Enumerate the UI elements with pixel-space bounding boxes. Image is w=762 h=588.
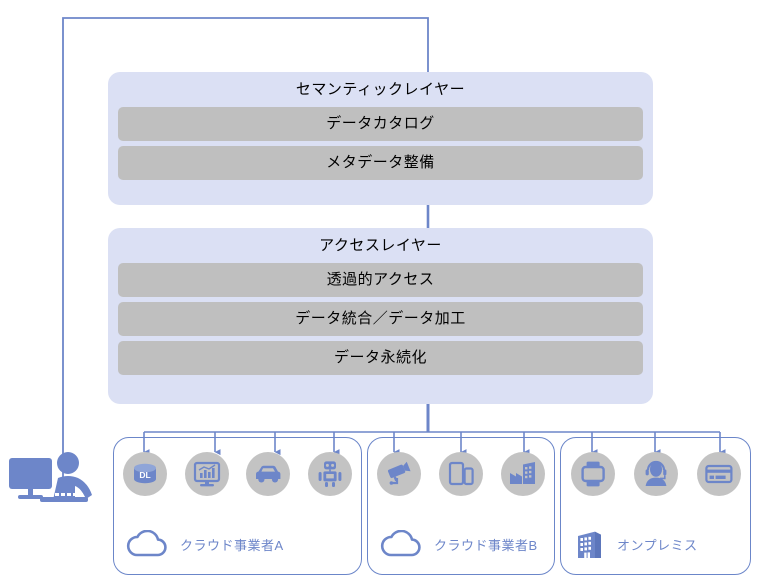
group-a-footer: クラウド事業者A bbox=[126, 528, 284, 560]
access-layer-row-persistence[interactable]: データ永続化 bbox=[118, 341, 643, 375]
group-cloud-provider-b: クラウド事業者B bbox=[367, 437, 555, 575]
analytics-monitor-icon bbox=[192, 459, 222, 489]
source-icons-group-a: DL bbox=[114, 452, 361, 496]
svg-text:DL: DL bbox=[139, 470, 150, 480]
semantic-layer-row-data-catalog[interactable]: データカタログ bbox=[118, 107, 643, 141]
access-layer-row-transparent-access[interactable]: 透過的アクセス bbox=[118, 263, 643, 297]
support-agent-icon bbox=[641, 459, 671, 489]
source-icons-group-b bbox=[368, 452, 554, 496]
access-layer-panel: アクセスレイヤー 透過的アクセス データ統合／データ加工 データ永続化 bbox=[108, 228, 653, 404]
car-icon bbox=[252, 459, 284, 489]
factory-icon bbox=[508, 459, 538, 489]
source-support-agent[interactable] bbox=[634, 452, 678, 496]
group-b-footer: クラウド事業者B bbox=[380, 528, 538, 560]
semantic-layer-panel: セマンティックレイヤー データカタログ メタデータ整備 bbox=[108, 72, 653, 205]
group-c-footer: オンプレミス bbox=[573, 528, 698, 560]
credit-card-icon bbox=[704, 459, 734, 489]
robot-icon bbox=[315, 459, 345, 489]
group-a-label: クラウド事業者A bbox=[180, 535, 284, 554]
building-icon bbox=[573, 528, 607, 560]
group-b-label: クラウド事業者B bbox=[434, 535, 538, 554]
security-camera-icon bbox=[384, 459, 414, 489]
source-robot[interactable] bbox=[308, 452, 352, 496]
cloud-icon bbox=[380, 528, 424, 560]
access-layer-title: アクセスレイヤー bbox=[118, 234, 643, 258]
source-security-camera[interactable] bbox=[377, 452, 421, 496]
source-analytics-monitor[interactable] bbox=[185, 452, 229, 496]
source-credit-card[interactable] bbox=[697, 452, 741, 496]
cloud-icon bbox=[126, 528, 170, 560]
source-data-lake[interactable]: DL bbox=[123, 452, 167, 496]
data-lake-icon: DL bbox=[130, 459, 160, 489]
source-icons-group-c bbox=[561, 452, 750, 496]
smartwatch-icon bbox=[578, 459, 608, 489]
source-factory[interactable] bbox=[501, 452, 545, 496]
person-at-desktop-icon bbox=[6, 449, 96, 511]
source-tablet-phone[interactable] bbox=[439, 452, 483, 496]
access-layer-row-integration-processing[interactable]: データ統合／データ加工 bbox=[118, 302, 643, 336]
tablet-phone-icon bbox=[446, 459, 476, 489]
semantic-layer-title: セマンティックレイヤー bbox=[118, 78, 643, 102]
semantic-layer-row-metadata[interactable]: メタデータ整備 bbox=[118, 146, 643, 180]
source-smartwatch[interactable] bbox=[571, 452, 615, 496]
source-connected-car[interactable] bbox=[246, 452, 290, 496]
group-on-premises: オンプレミス bbox=[560, 437, 751, 575]
diagram-canvas: セマンティックレイヤー データカタログ メタデータ整備 アクセスレイヤー 透過的… bbox=[0, 0, 762, 588]
group-cloud-provider-a: DL bbox=[113, 437, 362, 575]
user-at-computer bbox=[6, 449, 96, 511]
group-c-label: オンプレミス bbox=[617, 535, 698, 554]
